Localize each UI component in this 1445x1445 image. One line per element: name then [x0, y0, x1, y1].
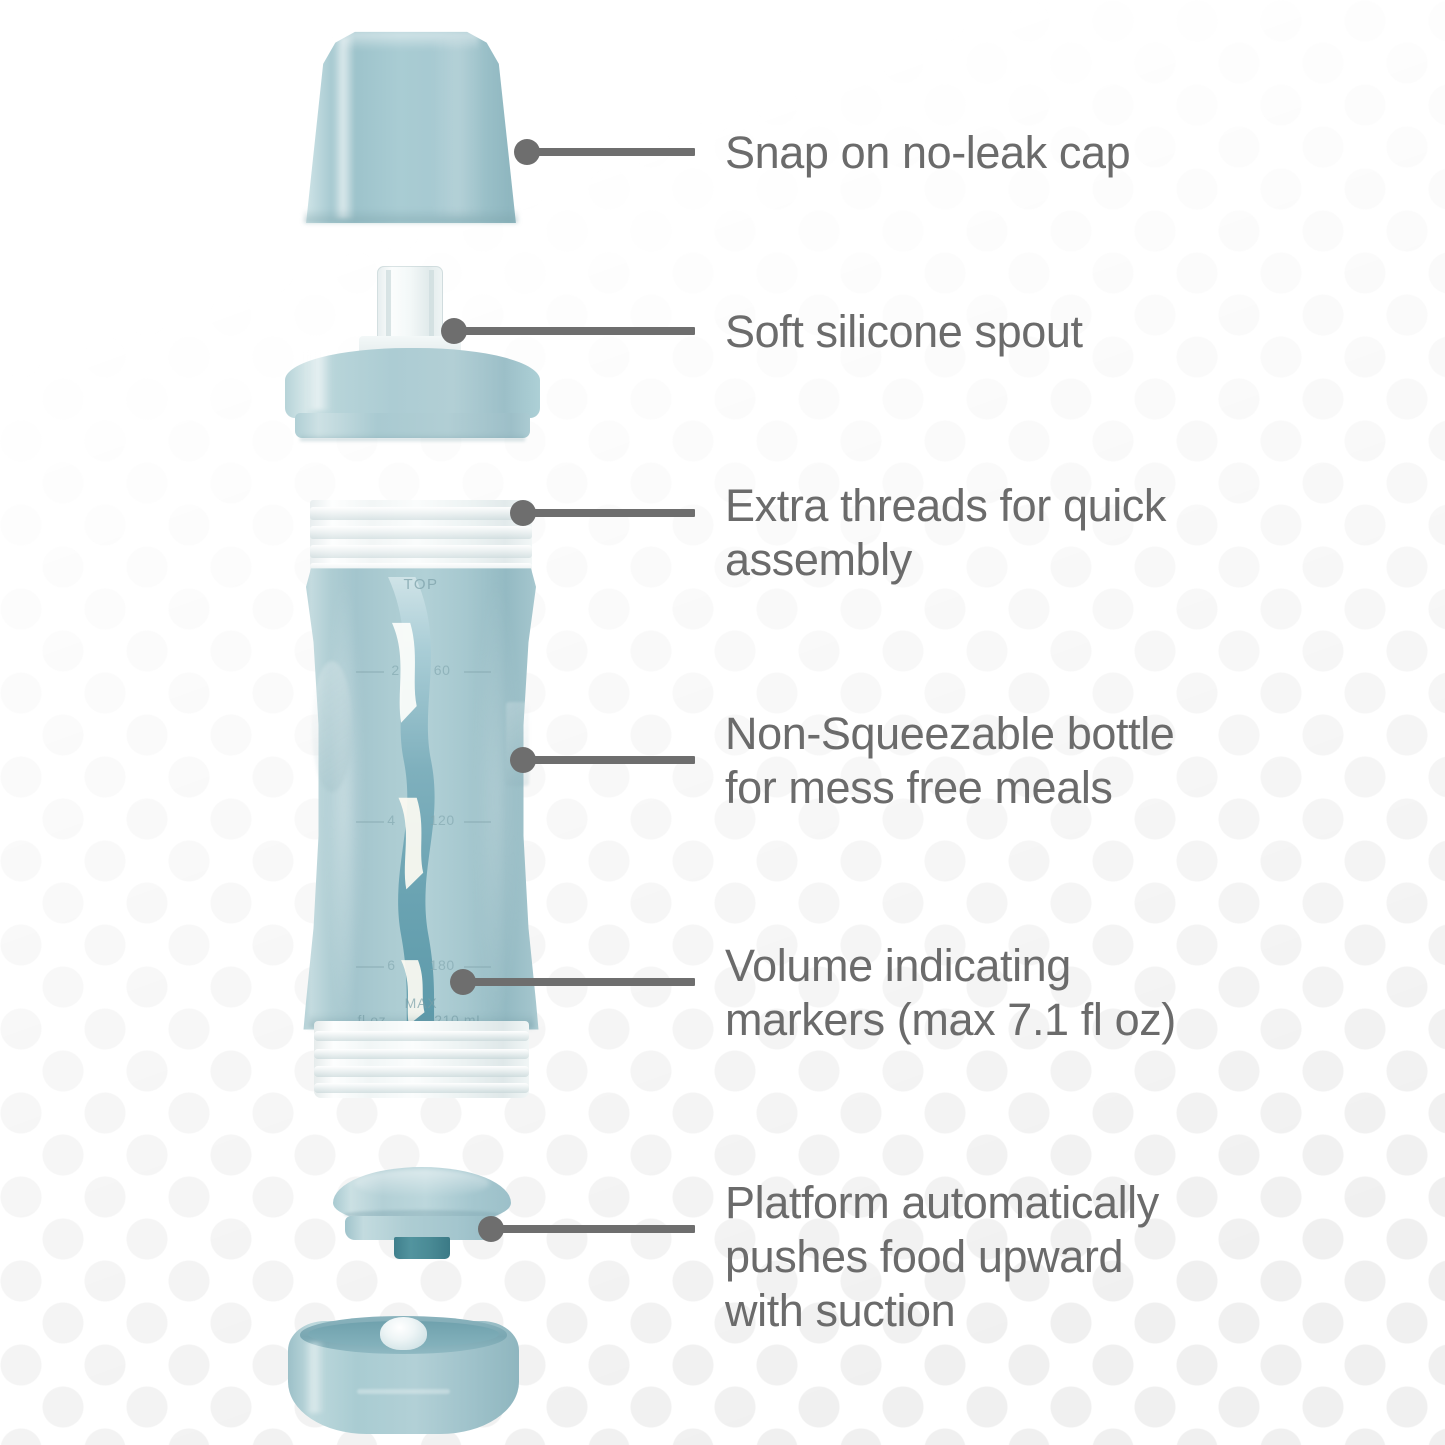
volume-tick: [464, 966, 492, 968]
volume-marker-oz: 6: [387, 957, 395, 973]
volume-marker-oz: 2: [391, 662, 399, 678]
neck-thread-ring: [310, 526, 533, 538]
bottom-thread-ring: [314, 1066, 529, 1076]
cap-secondary-highlight: [431, 39, 485, 219]
volume-marker-row: 2 60: [296, 662, 546, 678]
volume-tick: [464, 821, 492, 823]
platform-suction-stem: [394, 1237, 451, 1260]
sleeve-left-grip-detail: [312, 661, 352, 792]
infographic-canvas: TOP 2 60 4 120 6 180 MAX fl oz 210 mL: [0, 0, 1445, 1445]
volume-tick: [356, 671, 384, 673]
nozzle-left-edge: [386, 270, 391, 342]
callout-label-cap: Snap on no-leak cap: [725, 126, 1365, 180]
volume-marker-row: 4 120: [296, 812, 546, 828]
base-left-highlight: [304, 1342, 325, 1413]
bottom-thread-ring: [314, 1031, 529, 1041]
leader-bar: [528, 509, 695, 517]
leader-bar: [496, 1225, 695, 1233]
callout-label-spout: Soft silicone spout: [725, 305, 1365, 359]
leader-line-cap: [514, 139, 694, 165]
neck-thread-ring: [310, 545, 533, 557]
callout-label-volume: Volume indicating markers (max 7.1 fl oz…: [725, 939, 1375, 1047]
cap-gloss-highlight: [333, 37, 355, 219]
neck-thread-ring: [310, 507, 533, 519]
bottom-thread-ring: [314, 1049, 529, 1059]
volume-tick: [356, 966, 384, 968]
spout-collar-highlight: [305, 352, 331, 410]
cap-bottom-shadow: [304, 209, 519, 223]
platform-dome-highlight: [354, 1169, 489, 1197]
volume-marker-row: 6 180: [296, 957, 546, 973]
callout-label-threads: Extra threads for quick assembly: [725, 479, 1365, 587]
callout-label-platform: Platform automatically pushes food upwar…: [725, 1176, 1375, 1338]
max-fill-label: MAX: [296, 995, 546, 1011]
base-embossed-band: [357, 1389, 449, 1394]
volume-marker-oz: 4: [387, 812, 395, 828]
sleeve-right-grip-detail: [506, 702, 529, 785]
volume-marker-ml: 120: [430, 812, 455, 828]
product-part-bottle: TOP 2 60 4 120 6 180 MAX fl oz 210 mL: [296, 500, 546, 1095]
leader-bar: [528, 756, 695, 764]
cap-body: [289, 29, 533, 223]
base-valve-bump: [380, 1317, 426, 1350]
product-part-cap: [289, 29, 533, 223]
bottle-top-marking: TOP: [296, 576, 546, 593]
leader-bar: [532, 148, 695, 156]
product-part-spout-lid: [285, 266, 540, 441]
volume-tick: [464, 671, 492, 673]
bottom-thread-ring: [314, 1083, 529, 1093]
nozzle-right-edge: [429, 270, 434, 342]
callout-label-bottle: Non-Squeezable bottle for mess free meal…: [725, 707, 1375, 815]
volume-tick: [356, 821, 384, 823]
volume-marker-ml: 180: [430, 957, 455, 973]
spout-rim-shadow: [300, 434, 524, 441]
product-part-platform: [333, 1167, 511, 1261]
silicone-spout-nozzle: [377, 266, 443, 347]
volume-marker-ml: 60: [434, 662, 451, 678]
product-part-base: [288, 1316, 519, 1434]
